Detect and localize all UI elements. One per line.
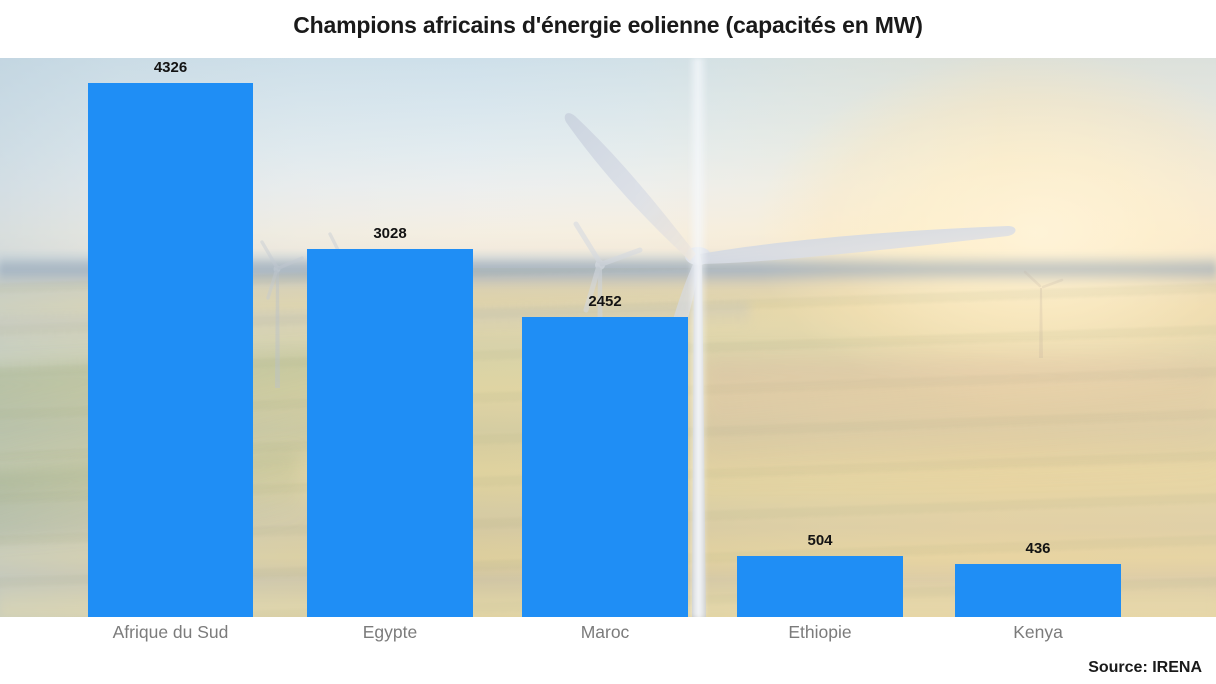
category-label-egypte: Egypte bbox=[307, 622, 473, 643]
chart-container: Champions africains d'énergie eolienne (… bbox=[0, 0, 1216, 684]
category-label-maroc: Maroc bbox=[522, 622, 688, 643]
bar-value-afrique-du-sud: 4326 bbox=[88, 59, 253, 76]
tower-light-strip bbox=[688, 58, 708, 617]
category-label-ethiopie: Ethiopie bbox=[737, 622, 903, 643]
bar-value-ethiopie: 504 bbox=[737, 532, 903, 549]
source-note: Source: IRENA bbox=[1088, 659, 1202, 677]
bar-value-maroc: 2452 bbox=[522, 293, 688, 310]
distant-turbines-right bbox=[1025, 272, 1062, 358]
category-label-afrique-du-sud: Afrique du Sud bbox=[88, 622, 253, 643]
bar-kenya[interactable] bbox=[955, 564, 1121, 617]
bar-maroc[interactable] bbox=[522, 317, 688, 617]
bar-ethiopie[interactable] bbox=[737, 556, 903, 617]
bar-value-egypte: 3028 bbox=[307, 225, 473, 242]
plot-area bbox=[0, 58, 1216, 617]
category-label-kenya: Kenya bbox=[955, 622, 1121, 643]
bar-value-kenya: 436 bbox=[955, 540, 1121, 557]
chart-title: Champions africains d'énergie eolienne (… bbox=[0, 12, 1216, 39]
bar-egypte[interactable] bbox=[307, 249, 473, 617]
bar-afrique-du-sud[interactable] bbox=[88, 83, 253, 617]
